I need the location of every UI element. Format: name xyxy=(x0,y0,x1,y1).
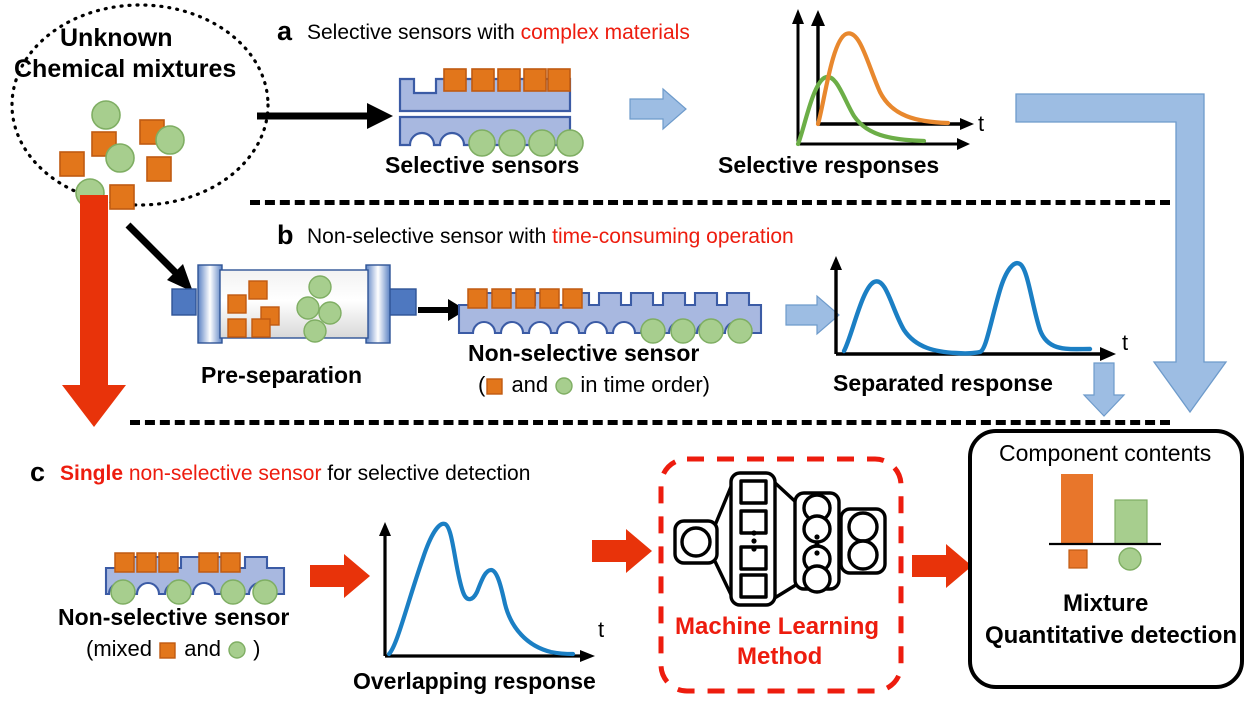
orange-square-marker xyxy=(444,69,570,91)
panel-c-response-caption: Overlapping response xyxy=(353,668,596,695)
neural-network-icon xyxy=(673,467,889,615)
selective-sensor-pair xyxy=(398,67,603,147)
panel-b-nonselective-sensor xyxy=(455,287,765,342)
pre-separation-column xyxy=(170,258,420,358)
results-title: Component contents xyxy=(999,440,1211,467)
curve-blue xyxy=(844,263,1090,353)
bar-orange xyxy=(1061,474,1093,544)
blue-arrow-icon xyxy=(1083,362,1125,417)
subcaption-and: and xyxy=(178,636,227,661)
panel-c-chart-axis-label: t xyxy=(598,617,604,643)
orange-square-marker xyxy=(158,641,178,659)
subcaption-close-paren: ) xyxy=(247,636,260,661)
green-circle-marker xyxy=(554,377,574,395)
curve-orange xyxy=(818,33,948,124)
red-arrow-icon xyxy=(912,543,974,589)
panel-a-title: Selective sensors with complex materials xyxy=(307,21,690,45)
panel-b-to-results-arrow xyxy=(1083,362,1125,417)
chart-separated-response xyxy=(828,236,1128,366)
ml-label-line1: Machine Learning xyxy=(675,613,879,641)
separation-column-graphic xyxy=(170,258,420,358)
chart-selective-responses xyxy=(792,4,992,149)
divider-a-b xyxy=(250,200,1170,205)
orange-square-marker xyxy=(115,553,240,572)
panel-b-column-caption: Pre-separation xyxy=(201,362,362,389)
red-arrow-icon xyxy=(592,528,654,574)
green-circle-marker xyxy=(1119,548,1141,570)
chart-component-contents xyxy=(1045,470,1165,570)
panel-c-title-red: non-selective sensor xyxy=(123,462,321,485)
orange-square-marker xyxy=(468,289,582,308)
divider-b-c xyxy=(130,420,1170,425)
bar-green xyxy=(1115,500,1147,544)
source-to-panel-a-arrow xyxy=(255,98,395,134)
selective-sensors-graphic xyxy=(398,67,603,147)
results-caption-line1: Mixture xyxy=(1063,590,1148,618)
panel-c-title-single: Single xyxy=(60,462,123,485)
panel-a-to-response-arrow xyxy=(630,88,688,130)
panel-a-title-red: complex materials xyxy=(521,21,690,44)
response-to-ml-arrow xyxy=(592,528,654,574)
nonselective-sensor-graphic-mixed xyxy=(103,551,288,603)
source-label-line2: Chemical mixtures xyxy=(14,55,236,84)
panel-a-letter: a xyxy=(277,18,292,45)
panel-b-sensor-caption: Non-selective sensor xyxy=(468,340,699,367)
curve-blue xyxy=(389,524,573,654)
panel-a-chart-axis-label: t xyxy=(978,111,984,137)
panel-b-response-caption: Separated response xyxy=(833,370,1053,397)
orange-square-marker xyxy=(1069,550,1087,568)
panel-c-title: Single non-selective sensor for selectiv… xyxy=(60,462,530,486)
subcaption-open-paren: ( xyxy=(478,372,485,397)
panel-b-chart-axis-label: t xyxy=(1122,330,1128,356)
ml-to-results-arrow xyxy=(912,543,974,589)
green-circle-marker xyxy=(227,641,247,659)
nonselective-sensor-graphic xyxy=(455,287,765,342)
sensor-to-response-arrow xyxy=(310,553,372,599)
panel-b-letter: b xyxy=(277,222,294,249)
panel-a-response-caption: Selective responses xyxy=(718,152,939,179)
panel-b-title-red: time-consuming operation xyxy=(552,225,794,248)
selective-responses-chart xyxy=(792,4,992,149)
panel-a-title-black: Selective sensors with xyxy=(307,21,521,44)
orange-square-marker xyxy=(485,377,505,395)
panel-c-letter: c xyxy=(30,459,45,486)
panel-b-sensor-subcaption: ( and in time order) xyxy=(478,372,710,398)
panel-b-title: Non-selective sensor with time-consuming… xyxy=(307,225,794,249)
subcaption-and: and xyxy=(505,372,554,397)
panel-b-title-black: Non-selective sensor with xyxy=(307,225,552,248)
subcaption-time-order: in time order) xyxy=(574,372,710,397)
overlapping-response-chart xyxy=(375,500,615,670)
subcaption-mixed: (mixed xyxy=(86,636,158,661)
results-box: Component contents Mixture Quantitative … xyxy=(967,428,1245,690)
panel-c-title-black: for selective detection xyxy=(321,462,530,485)
panel-c-sensor-caption: Non-selective sensor xyxy=(58,604,289,631)
panel-a-sensor-caption: Selective sensors xyxy=(385,152,579,179)
chart-overlapping-response xyxy=(375,500,615,670)
red-arrow-icon xyxy=(310,553,372,599)
separated-response-chart xyxy=(828,236,1128,366)
black-arrow-icon xyxy=(255,98,395,134)
blue-arrow-icon xyxy=(630,88,688,130)
panel-c-sensor-subcaption: (mixed and ) xyxy=(86,636,261,662)
results-caption-line2: Quantitative detection xyxy=(985,622,1237,650)
panel-c-nonselective-sensor xyxy=(103,551,288,603)
source-label-line1: Unknown xyxy=(60,24,173,53)
ml-label-line2: Method xyxy=(737,643,822,671)
machine-learning-box: Machine Learning Method xyxy=(657,455,905,695)
